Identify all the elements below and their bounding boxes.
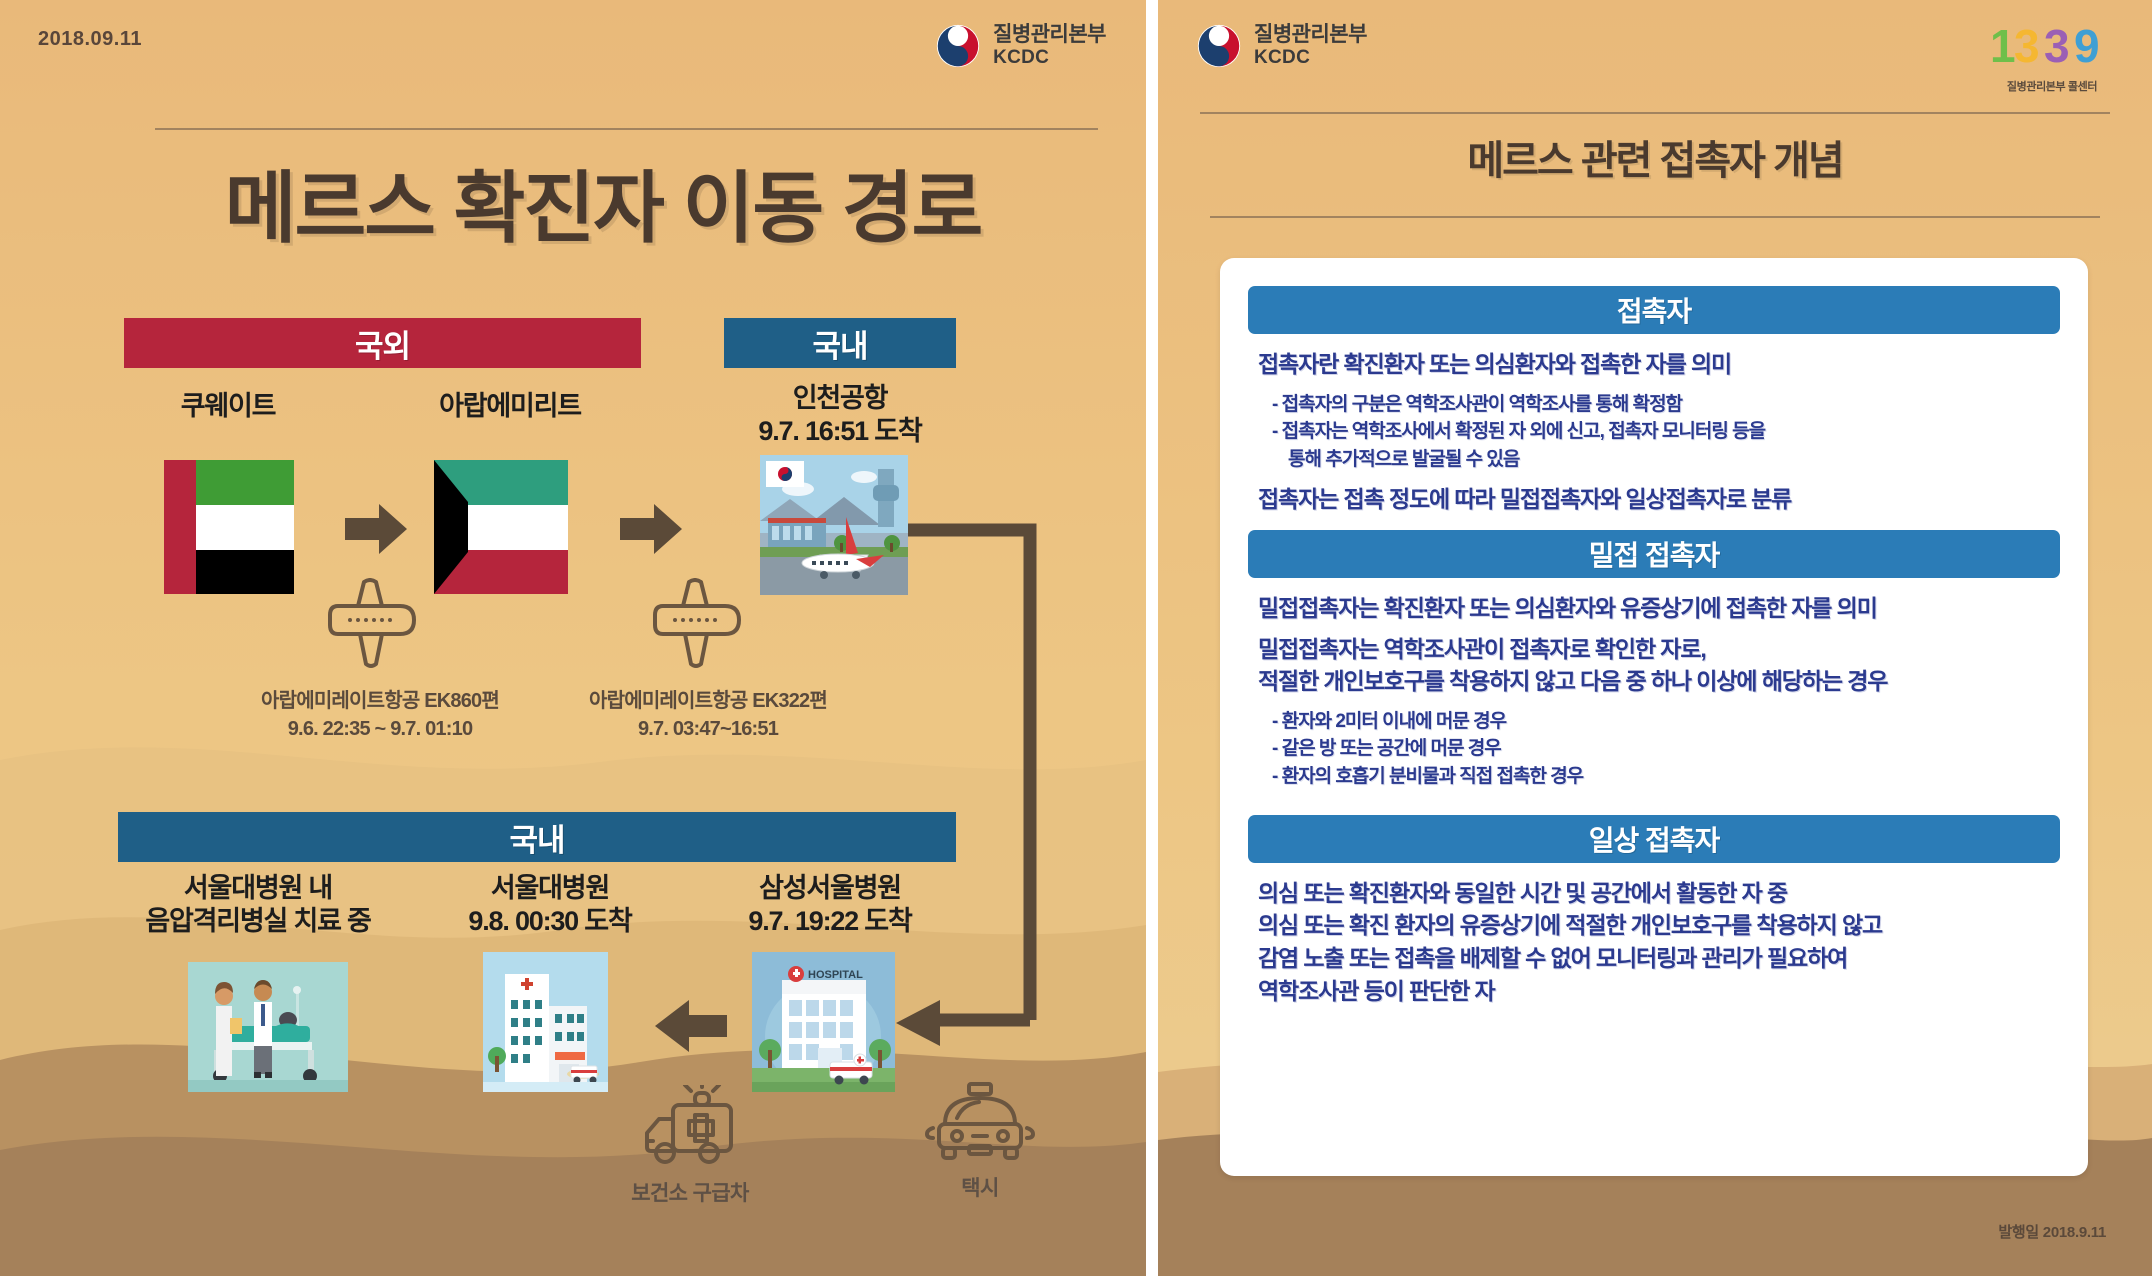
casual-contact-line-4: 역학조사관 등이 판단한 자: [1258, 975, 2050, 1008]
title-divider-right: [1210, 216, 2100, 218]
transport-taxi: 택시: [900, 1080, 1060, 1202]
node-name-smc: 삼성서울병원: [680, 872, 980, 905]
close-contact-bullet-3: - 환자의 호흡기 분비물과 직접 접촉한 경우: [1272, 763, 2050, 791]
flight-1-name: 아랍에미레이트항공 EK860편: [200, 688, 560, 716]
node-name-kuwait: 쿠웨이트: [108, 390, 348, 423]
contact-lead-2: 접촉자는 접촉 정도에 따라 밀접접촉자와 일상접촉자로 분류: [1258, 483, 2050, 516]
section-heading-close-contact: 밀접 접촉자: [1248, 530, 2060, 578]
call-center-caption: 질병관리본부 콜센터: [1988, 78, 2116, 94]
close-contact-lead-2: 밀접접촉자는 역학조사관이 접촉자로 확인한 자로,: [1258, 633, 2050, 666]
kcdc-logo-left: 질병관리본부 KCDC: [935, 22, 1106, 70]
contact-bullets: - 접촉자의 구분은 역학조사관이 역학조사를 통해 확정함 - 접촉자는 역학…: [1272, 391, 2050, 474]
node-sub-snuh: 9.8. 00:30 도착: [410, 905, 690, 938]
contact-lead-1: 접촉자란 확진환자 또는 의심환자와 접촉한 자를 의미: [1258, 348, 2050, 381]
spacer-close-1: [1258, 625, 2050, 633]
node-label-kuwait: 쿠웨이트: [108, 390, 348, 423]
section-body-contact: 접촉자란 확진환자 또는 의심환자와 접촉한 자를 의미 - 접촉자의 구분은 …: [1248, 334, 2060, 524]
arrow-right-icon-2: [620, 500, 682, 558]
node-label-smc: 삼성서울병원 9.7. 19:22 도착: [680, 872, 980, 938]
svg-text:3: 3: [2044, 20, 2070, 72]
node-label-uae: 아랍에미리트: [370, 390, 650, 423]
svg-text:HOSPITAL: HOSPITAL: [808, 969, 863, 981]
casual-contact-line-1: 의심 또는 확진환자와 동일한 시간 및 공간에서 활동한 자 중: [1258, 877, 2050, 910]
publication-date-stamp: 2018.09.11: [38, 28, 142, 51]
hospital-building-illustration-1: [483, 952, 608, 1092]
call-center-1339-icon: 1 3 3 9: [1988, 18, 2116, 72]
banner-abroad: 국외: [124, 318, 641, 368]
transport-taxi-label: 택시: [900, 1172, 1060, 1202]
node-name-incheon: 인천공항: [690, 382, 990, 415]
airplane-icon-1: [320, 578, 430, 670]
kcdc-logo-en-left: KCDC: [993, 47, 1106, 70]
arrow-left-icon-1: [655, 995, 727, 1057]
close-contact-bullet-1: - 환자와 2미터 이내에 머문 경우: [1272, 708, 2050, 736]
node-name-snuh: 서울대병원: [410, 872, 690, 905]
title-divider-left: [155, 128, 1098, 130]
uae-flag-icon: [164, 460, 294, 594]
banner-domestic-bottom: 국내: [118, 812, 956, 862]
right-panel-concepts: 질병관리본부 KCDC 1 3 3 9 질병관리본부 콜센터 메르스 관련 접촉…: [1158, 0, 2152, 1276]
close-contact-bullets: - 환자와 2미터 이내에 머문 경우 - 같은 방 또는 공간에 머문 경우 …: [1272, 708, 2050, 791]
contact-bullet-2: - 접촉자는 역학조사에서 확정된 자 외에 신고, 접촉자 모니터링 등을: [1272, 418, 2050, 446]
patient-bed-illustration: [188, 962, 348, 1092]
kcdc-logo-kr-right: 질병관리본부: [1254, 22, 1367, 47]
flight-2-name: 아랍에미레이트항공 EK322편: [528, 688, 888, 716]
section-heading-contact: 접촉자: [1248, 286, 2060, 334]
taxi-icon: [925, 1080, 1035, 1166]
svg-text:1: 1: [1990, 20, 2016, 72]
page-title-left: 메르스 확진자 이동 경로: [0, 146, 1146, 258]
contact-bullet-1: - 접촉자의 구분은 역학조사관이 역학조사를 통해 확정함: [1272, 391, 2050, 419]
node-label-incheon-airport: 인천공항 9.7. 16:51 도착: [690, 382, 990, 448]
node-name-uae: 아랍에미리트: [370, 390, 650, 423]
section-close-contact: 밀접 접촉자 밀접접촉자는 확진환자 또는 의심환자와 유증상기에 접촉한 자를…: [1248, 530, 2060, 809]
node-sub-smc: 9.7. 19:22 도착: [680, 905, 980, 938]
kcdc-logo-right: 질병관리본부 KCDC: [1196, 22, 1367, 70]
transport-ambulance: 보건소 구급차: [610, 1085, 770, 1207]
section-contact: 접촉자 접촉자란 확진환자 또는 의심환자와 접촉한 자를 의미 - 접촉자의 …: [1248, 286, 2060, 524]
flight-2-time: 9.7. 03:47~16:51: [528, 716, 888, 744]
section-body-close-contact: 밀접접촉자는 확진환자 또는 의심환자와 유증상기에 접촉한 자를 의미 밀접접…: [1248, 578, 2060, 809]
node-name-snuh-isolation: 서울대병원 내: [108, 872, 408, 905]
close-contact-lead-3: 적절한 개인보호구를 착용하지 않고 다음 중 하나 이상에 해당하는 경우: [1258, 665, 2050, 698]
kcdc-taegeuk-logo-icon-right: [1196, 23, 1242, 69]
node-label-snuh: 서울대병원 9.8. 00:30 도착: [410, 872, 690, 938]
publication-footer: 발행일 2018.9.11: [1998, 1221, 2106, 1242]
casual-contact-line-2: 의심 또는 확진 환자의 유증상기에 적절한 개인보호구를 착용하지 않고: [1258, 909, 2050, 942]
contact-bullet-2-cont: 통해 추가적으로 발굴될 수 있음: [1272, 446, 2050, 474]
infographic-stage: 2018.09.11 질병관리본부 KCDC 메르스 확진자 이동 경로 국외 …: [0, 0, 2152, 1276]
svg-text:9: 9: [2074, 20, 2100, 72]
kcdc-logo-en-right: KCDC: [1254, 47, 1367, 70]
node-sub-snuh-isolation: 음압격리병실 치료 중: [108, 905, 408, 938]
airplane-icon-2: [645, 578, 755, 670]
transport-ambulance-label: 보건소 구급차: [610, 1177, 770, 1207]
page-title-right: 메르스 관련 접촉자 개념: [1158, 128, 2152, 186]
kuwait-flag-icon: [434, 460, 568, 594]
route-connector-path: [870, 520, 1100, 1080]
header-divider-right: [1200, 112, 2110, 114]
svg-text:3: 3: [2014, 20, 2040, 72]
flight-info-1: 아랍에미레이트항공 EK860편 9.6. 22:35 ~ 9.7. 01:10: [200, 688, 560, 743]
close-contact-bullet-2: - 같은 방 또는 공간에 머문 경우: [1272, 735, 2050, 763]
close-contact-lead-1: 밀접접촉자는 확진환자 또는 의심환자와 유증상기에 접촉한 자를 의미: [1258, 592, 2050, 625]
node-sub-incheon: 9.7. 16:51 도착: [690, 415, 990, 448]
ambulance-icon: [635, 1085, 745, 1171]
arrow-right-icon-1: [345, 500, 407, 558]
kcdc-taegeuk-logo-icon: [935, 23, 981, 69]
hospital-building-illustration-2: HOSPITAL: [752, 952, 895, 1092]
section-body-casual-contact: 의심 또는 확진환자와 동일한 시간 및 공간에서 활동한 자 중 의심 또는 …: [1248, 863, 2060, 1016]
flight-info-2: 아랍에미레이트항공 EK322편 9.7. 03:47~16:51: [528, 688, 888, 743]
call-center-logo: 1 3 3 9 질병관리본부 콜센터: [1988, 18, 2116, 94]
banner-domestic-top: 국내: [724, 318, 956, 368]
node-label-snuh-isolation: 서울대병원 내 음압격리병실 치료 중: [108, 872, 408, 938]
concepts-card: 접촉자 접촉자란 확진환자 또는 의심환자와 접촉한 자를 의미 - 접촉자의 …: [1220, 258, 2088, 1176]
casual-contact-line-3: 감염 노출 또는 접촉을 배제할 수 없어 모니터링과 관리가 필요하여: [1258, 942, 2050, 975]
flight-1-time: 9.6. 22:35 ~ 9.7. 01:10: [200, 716, 560, 744]
left-panel-route: 2018.09.11 질병관리본부 KCDC 메르스 확진자 이동 경로 국외 …: [0, 0, 1146, 1276]
incheon-airport-illustration: [760, 455, 908, 595]
section-casual-contact: 일상 접촉자 의심 또는 확진환자와 동일한 시간 및 공간에서 활동한 자 중…: [1248, 815, 2060, 1016]
kcdc-logo-kr-left: 질병관리본부: [993, 22, 1106, 47]
section-heading-casual-contact: 일상 접촉자: [1248, 815, 2060, 863]
